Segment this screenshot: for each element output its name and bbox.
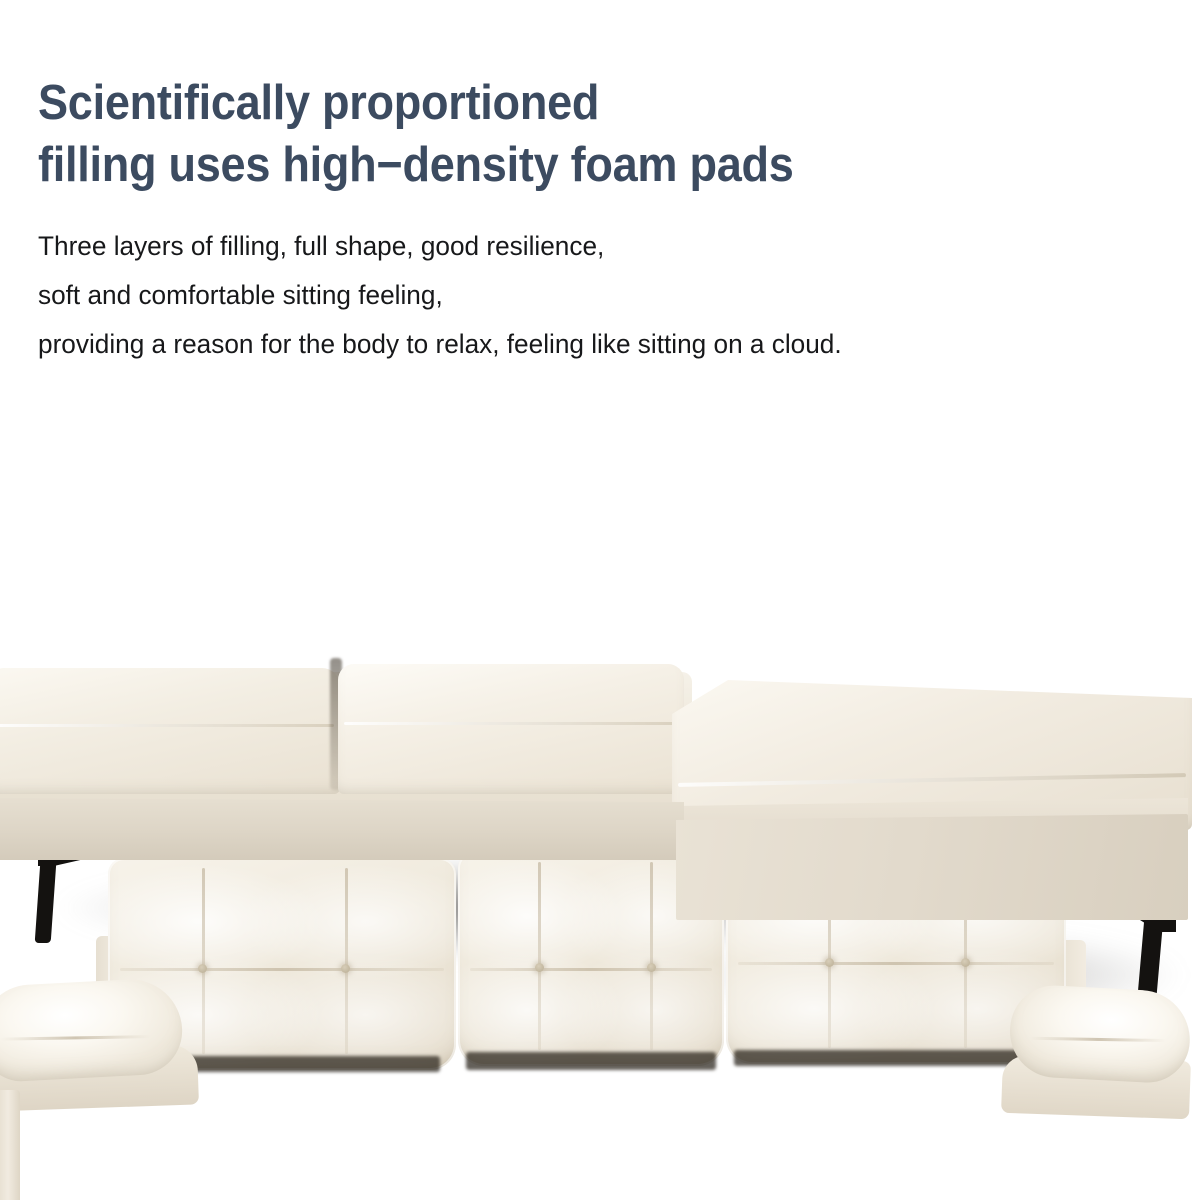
seat-cushion-left bbox=[0, 668, 340, 794]
body-copy: Three layers of filling, full shape, goo… bbox=[38, 222, 842, 369]
promo-page: Scientifically proportioned filling uses… bbox=[0, 0, 1200, 1200]
seam-back-right bbox=[734, 1050, 1034, 1066]
body-copy-line-3: providing a reason for the body to relax… bbox=[38, 320, 842, 369]
arm-post-left bbox=[0, 1090, 20, 1200]
headline-line-2: filling uses high−density foam pads bbox=[38, 134, 794, 196]
product-image bbox=[0, 400, 1200, 1200]
chaise-base-plinth bbox=[676, 814, 1188, 920]
arm-pillow-right bbox=[1008, 983, 1193, 1084]
seat-cushion-center bbox=[338, 664, 684, 794]
seam-back-center bbox=[466, 1052, 716, 1070]
arm-pillow-left bbox=[0, 977, 184, 1083]
body-copy-line-2: soft and comfortable sitting feeling, bbox=[38, 271, 842, 320]
headline-line-1: Scientifically proportioned bbox=[38, 72, 794, 134]
sofa-base-plinth bbox=[0, 798, 684, 860]
body-copy-line-1: Three layers of filling, full shape, goo… bbox=[38, 222, 842, 271]
page-title: Scientifically proportioned filling uses… bbox=[38, 72, 794, 196]
